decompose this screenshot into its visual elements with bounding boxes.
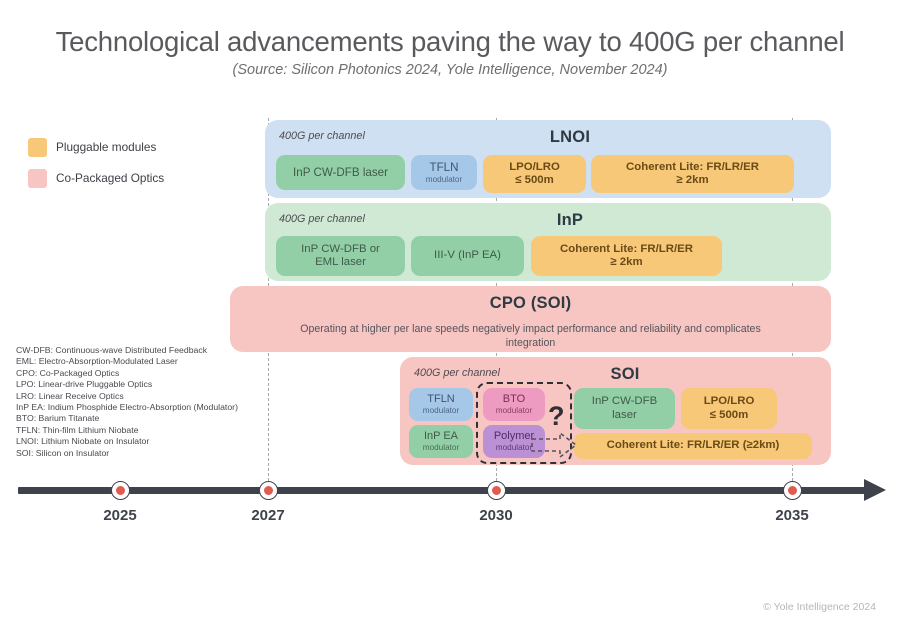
chip-line-1: Coherent Lite: FR/LR/ER [560, 243, 693, 256]
legend-swatch-co-packaged-optics [28, 169, 47, 188]
abbreviation-item: LNOI: Lithium Niobate on Insulator [16, 436, 248, 447]
timeline-year-2025: 2025 [85, 507, 155, 524]
legend-item-pluggable-modules: Pluggable modules [28, 136, 164, 158]
chip-line-1: LPO/LRO [509, 161, 560, 174]
question-mark-label: ? [548, 401, 565, 432]
infographic-root: Technological advancements paving the wa… [0, 0, 900, 630]
abbreviation-item: TFLN: Thin-film Lithium Niobate [16, 425, 248, 436]
chip-soi-coherent-lite: Coherent Lite: FR/LR/ER (≥2km) [574, 433, 812, 459]
abbreviation-item: SOI: Silicon on Insulator [16, 448, 248, 459]
chip-line-2: modulator [423, 406, 459, 416]
dashed-arrow-icon [530, 430, 580, 460]
chip-line-1: Coherent Lite: FR/LR/ER (≥2km) [607, 439, 780, 452]
chip-soi-lpo-lro: LPO/LRO ≤ 500m [681, 388, 777, 429]
chip-inp-cw-dfb-or-eml-laser: InP CW-DFB or EML laser [276, 236, 405, 276]
band-soi: 400G per channel SOI TFLN modulator InP … [400, 357, 831, 465]
chip-lnoi-lpo-lro: LPO/LRO ≤ 500m [483, 155, 586, 193]
chip-soi-tfln-modulator: TFLN modulator [409, 388, 473, 421]
legend-item-co-packaged-optics: Co-Packaged Optics [28, 167, 164, 189]
legend-label-pluggable-modules: Pluggable modules [56, 140, 156, 154]
band-soi-tag: 400G per channel [414, 367, 500, 379]
copyright-text: © Yole Intelligence 2024 [763, 601, 876, 613]
abbreviation-item: InP EA: Indium Phosphide Electro-Absorpt… [16, 402, 248, 413]
chip-inp-coherent-lite: Coherent Lite: FR/LR/ER ≥ 2km [531, 236, 722, 276]
chip-lnoi-tfln-modulator: TFLN modulator [411, 155, 477, 190]
timeline-arrow-icon [864, 479, 886, 501]
band-inp: 400G per channel InP InP CW-DFB or EML l… [265, 203, 831, 281]
abbreviation-item: LPO: Linear-drive Pluggable Optics [16, 379, 248, 390]
page-subtitle: (Source: Silicon Photonics 2024, Yole In… [0, 62, 900, 78]
chip-soi-inp-cw-dfb-laser: InP CW-DFB laser [574, 388, 675, 429]
chip-line-1: TFLN [430, 161, 459, 175]
chip-line-1: III-V (InP EA) [434, 249, 501, 262]
chip-line-1: LPO/LRO [704, 395, 755, 408]
abbreviations-list: CW-DFB: Continuous-wave Distributed Feed… [16, 345, 248, 459]
band-cpo-soi: CPO (SOI) Operating at higher per lane s… [230, 286, 831, 352]
chip-lnoi-inp-cw-dfb-laser: InP CW-DFB laser [276, 155, 405, 190]
chip-line-1: InP CW-DFB laser [293, 166, 388, 180]
chip-line-2: ≤ 500m [710, 409, 749, 422]
band-inp-tag: 400G per channel [279, 213, 365, 225]
abbreviation-item: CW-DFB: Continuous-wave Distributed Feed… [16, 345, 248, 356]
timeline-axis [18, 487, 870, 494]
abbreviation-item: LRO: Linear Receive Optics [16, 391, 248, 402]
legend: Pluggable modules Co-Packaged Optics [28, 136, 164, 198]
band-inp-title: InP [495, 211, 645, 230]
chip-inp-iii-v-inp-ea: III-V (InP EA) [411, 236, 524, 276]
chip-line-2: ≤ 500m [515, 174, 554, 187]
band-cpo-title: CPO (SOI) [230, 294, 831, 313]
chip-line-2: ≥ 2km [676, 174, 708, 187]
chip-line-1: Coherent Lite: FR/LR/ER [626, 161, 759, 174]
timeline-year-2035: 2035 [757, 507, 827, 524]
legend-label-co-packaged-optics: Co-Packaged Optics [56, 171, 164, 185]
chip-line-2: modulator [426, 175, 462, 185]
timeline-tick-2025[interactable] [111, 481, 130, 500]
timeline-tick-2027[interactable] [259, 481, 278, 500]
chip-line-2: EML laser [315, 256, 366, 269]
timeline-year-2030: 2030 [461, 507, 531, 524]
timeline-tick-2035[interactable] [783, 481, 802, 500]
chip-line-2: laser [612, 409, 637, 422]
band-cpo-note: Operating at higher per lane speeds nega… [280, 322, 781, 350]
timeline-tick-2030[interactable] [487, 481, 506, 500]
chip-line-2: modulator [423, 443, 459, 453]
band-lnoi: 400G per channel LNOI InP CW-DFB laser T… [265, 120, 831, 198]
band-soi-title: SOI [550, 365, 700, 384]
band-lnoi-title: LNOI [495, 128, 645, 147]
band-lnoi-tag: 400G per channel [279, 130, 365, 142]
page-title: Technological advancements paving the wa… [0, 26, 900, 58]
chip-soi-inp-ea-modulator: InP EA modulator [409, 425, 473, 458]
chip-line-1: InP CW-DFB [592, 395, 657, 408]
chip-lnoi-coherent-lite: Coherent Lite: FR/LR/ER ≥ 2km [591, 155, 794, 193]
chip-line-1: TFLN [427, 393, 455, 406]
abbreviation-item: EML: Electro-Absorption-Modulated Laser [16, 356, 248, 367]
abbreviation-item: BTO: Barium Titanate [16, 413, 248, 424]
abbreviation-item: CPO: Co-Packaged Optics [16, 368, 248, 379]
legend-swatch-pluggable-modules [28, 138, 47, 157]
timeline-year-2027: 2027 [233, 507, 303, 524]
chip-line-1: InP CW-DFB or [301, 243, 380, 256]
chip-line-1: InP EA [424, 430, 458, 443]
chip-line-2: ≥ 2km [610, 256, 642, 269]
